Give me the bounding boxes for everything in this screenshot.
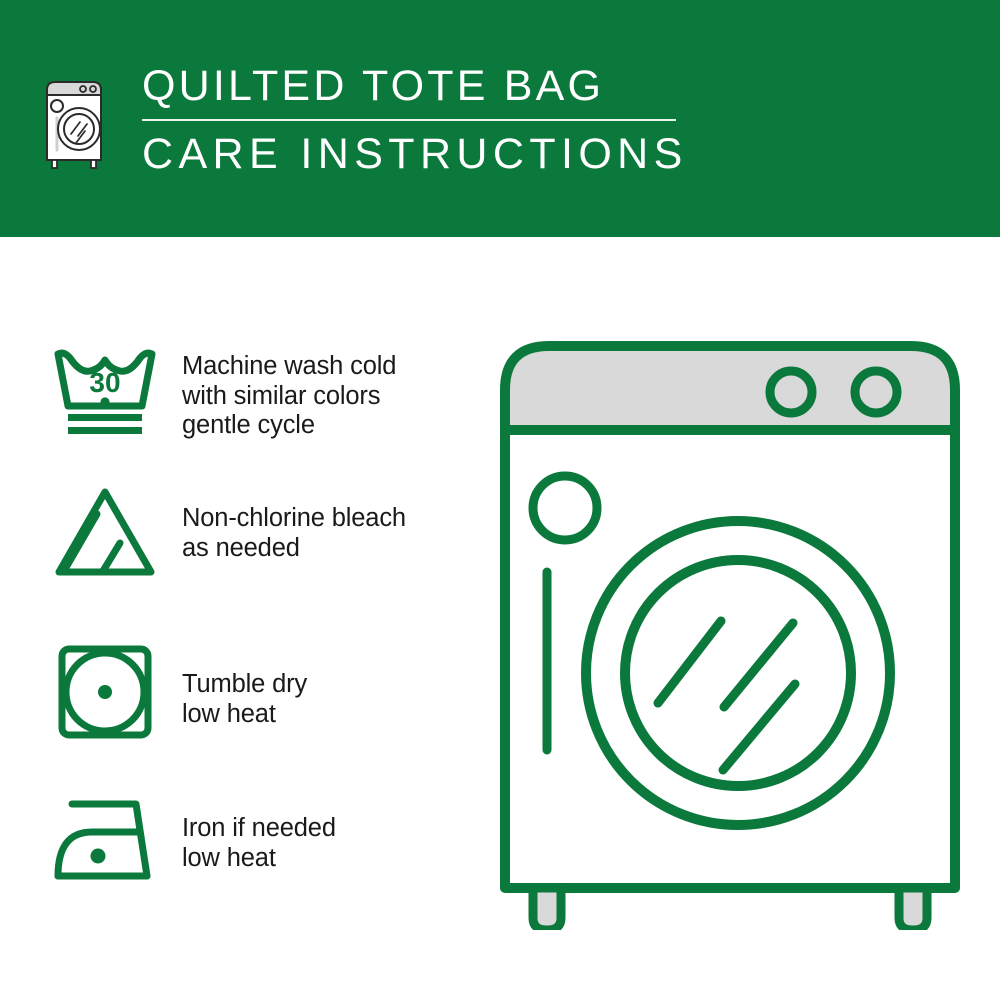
non-chlorine-bleach-triangle-icon xyxy=(50,482,160,582)
tumble-dry-low-heat-icon xyxy=(50,642,160,742)
header-content: QUILTED TOTE BAG CARE INSTRUCTIONS xyxy=(42,62,688,178)
wash-temperature-label: 30 xyxy=(89,367,120,398)
washing-machine-icon xyxy=(42,68,114,172)
list-item-label: Non-chlorine bleach as needed xyxy=(182,504,406,563)
care-instructions-list: 30 Machine wash cold with similar colors… xyxy=(0,237,470,1000)
header-banner: QUILTED TOTE BAG CARE INSTRUCTIONS xyxy=(0,0,1000,237)
product-title: QUILTED TOTE BAG xyxy=(142,62,688,110)
front-load-washing-machine-illustration xyxy=(495,330,965,930)
list-item: Iron if needed low heat xyxy=(50,792,470,887)
control-panel xyxy=(505,346,955,430)
list-item: Non-chlorine bleach as needed xyxy=(50,482,470,582)
list-item-label: Tumble dry low heat xyxy=(182,670,307,729)
leg-left xyxy=(533,888,561,930)
list-item: 30 Machine wash cold with similar colors… xyxy=(50,342,470,442)
page-title: CARE INSTRUCTIONS xyxy=(142,130,688,178)
header-title-group: QUILTED TOTE BAG CARE INSTRUCTIONS xyxy=(142,62,688,178)
list-item: Tumble dry low heat xyxy=(50,642,470,742)
list-item-label: Machine wash cold with similar colors ge… xyxy=(182,352,396,441)
title-divider xyxy=(142,119,676,121)
list-item-label: Iron if needed low heat xyxy=(182,814,336,873)
iron-low-heat-icon xyxy=(50,792,160,887)
wash-tub-30-gentle-icon: 30 xyxy=(50,342,160,442)
leg-right xyxy=(899,888,927,930)
